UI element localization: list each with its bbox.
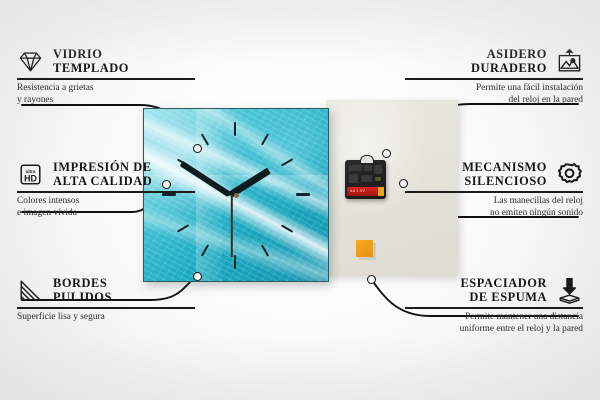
feature-title: ESPACIADOR [460,277,547,291]
divider [17,191,195,193]
feature-title: IMPRESIÓN DE [53,161,152,175]
feature-desc: e imagen vívida [17,208,195,219]
gear-icon [556,161,583,188]
picture-hanger-icon [556,48,583,75]
feature-mecanismo-silencioso: MECANISMO SILENCIOSO Las manecillas del … [405,161,583,219]
divider [17,307,195,309]
second-hand [231,195,233,257]
feature-desc: y rayones [17,95,195,106]
feature-title: ASIDERO [471,48,547,62]
feature-desc: Resistencia a grietas [17,83,195,94]
feature-desc: Permite una fácil instalación [405,83,583,94]
feature-title: ALTA CALIDAD [53,175,152,189]
marker-asidero [382,149,391,158]
battery-label: AA 1.5V [350,189,365,193]
ultra-hd-badge-icon: ultra HD [17,161,44,188]
feature-desc: Superficie lisa y segura [17,312,195,323]
polished-edge-icon [17,277,44,304]
diamond-icon [17,48,44,75]
movement-detail [361,175,372,182]
feature-title: PULIDOS [53,291,112,305]
marker-vidrio [193,144,202,153]
divider [405,307,583,309]
divider [17,78,195,80]
feature-impresion-alta-calidad: ultra HD IMPRESIÓN DE ALTA CALIDAD Color… [17,161,195,219]
feature-desc: del reloj en la pared [405,95,583,106]
movement-detail [349,174,358,183]
clock-movement: AA 1.5V [345,160,386,199]
feature-espaciador-de-espuma: ESPACIADOR DE ESPUMA Permite mantener un… [405,277,583,335]
feature-title: BORDES [53,277,112,291]
movement-detail [374,165,382,174]
infographic-canvas: AA 1.5V [0,0,600,400]
foam-spacer-arrow-icon [556,277,583,304]
hanger-hook [360,155,374,163]
feature-title: DE ESPUMA [460,291,547,305]
movement-detail [364,165,372,171]
feature-desc: Colores intensos [17,196,195,207]
feature-title: TEMPLADO [53,62,129,76]
feature-vidrio-templado: VIDRIO TEMPLADO Resistencia a grietas y … [17,48,195,106]
divider [405,78,583,80]
feature-bordes-pulidos: BORDES PULIDOS Superficie lisa y segura [17,277,195,324]
divider [405,191,583,193]
battery: AA 1.5V [347,187,384,196]
feature-desc: Las manecillas del reloj [405,196,583,207]
svg-text:HD: HD [24,173,37,183]
feature-title: DURADERO [471,62,547,76]
feature-title: MECANISMO [462,161,547,175]
marker-espaciador [367,275,376,284]
feature-desc: uniforme entre el reloj y la pared [405,324,583,335]
feature-title: VIDRIO [53,48,129,62]
feature-desc: no emiten ningún sonido [405,208,583,219]
movement-detail [375,177,381,181]
movement-detail [349,165,362,171]
tick-3 [296,193,310,196]
feature-asidero-duradero: ASIDERO DURADERO Permite una fácil insta… [405,48,583,106]
center-pin [234,193,239,198]
feature-desc: Permite mantener una distancia [405,312,583,323]
foam-spacer-pad [356,240,373,257]
feature-title: SILENCIOSO [462,175,547,189]
battery-positive-terminal [378,187,384,196]
